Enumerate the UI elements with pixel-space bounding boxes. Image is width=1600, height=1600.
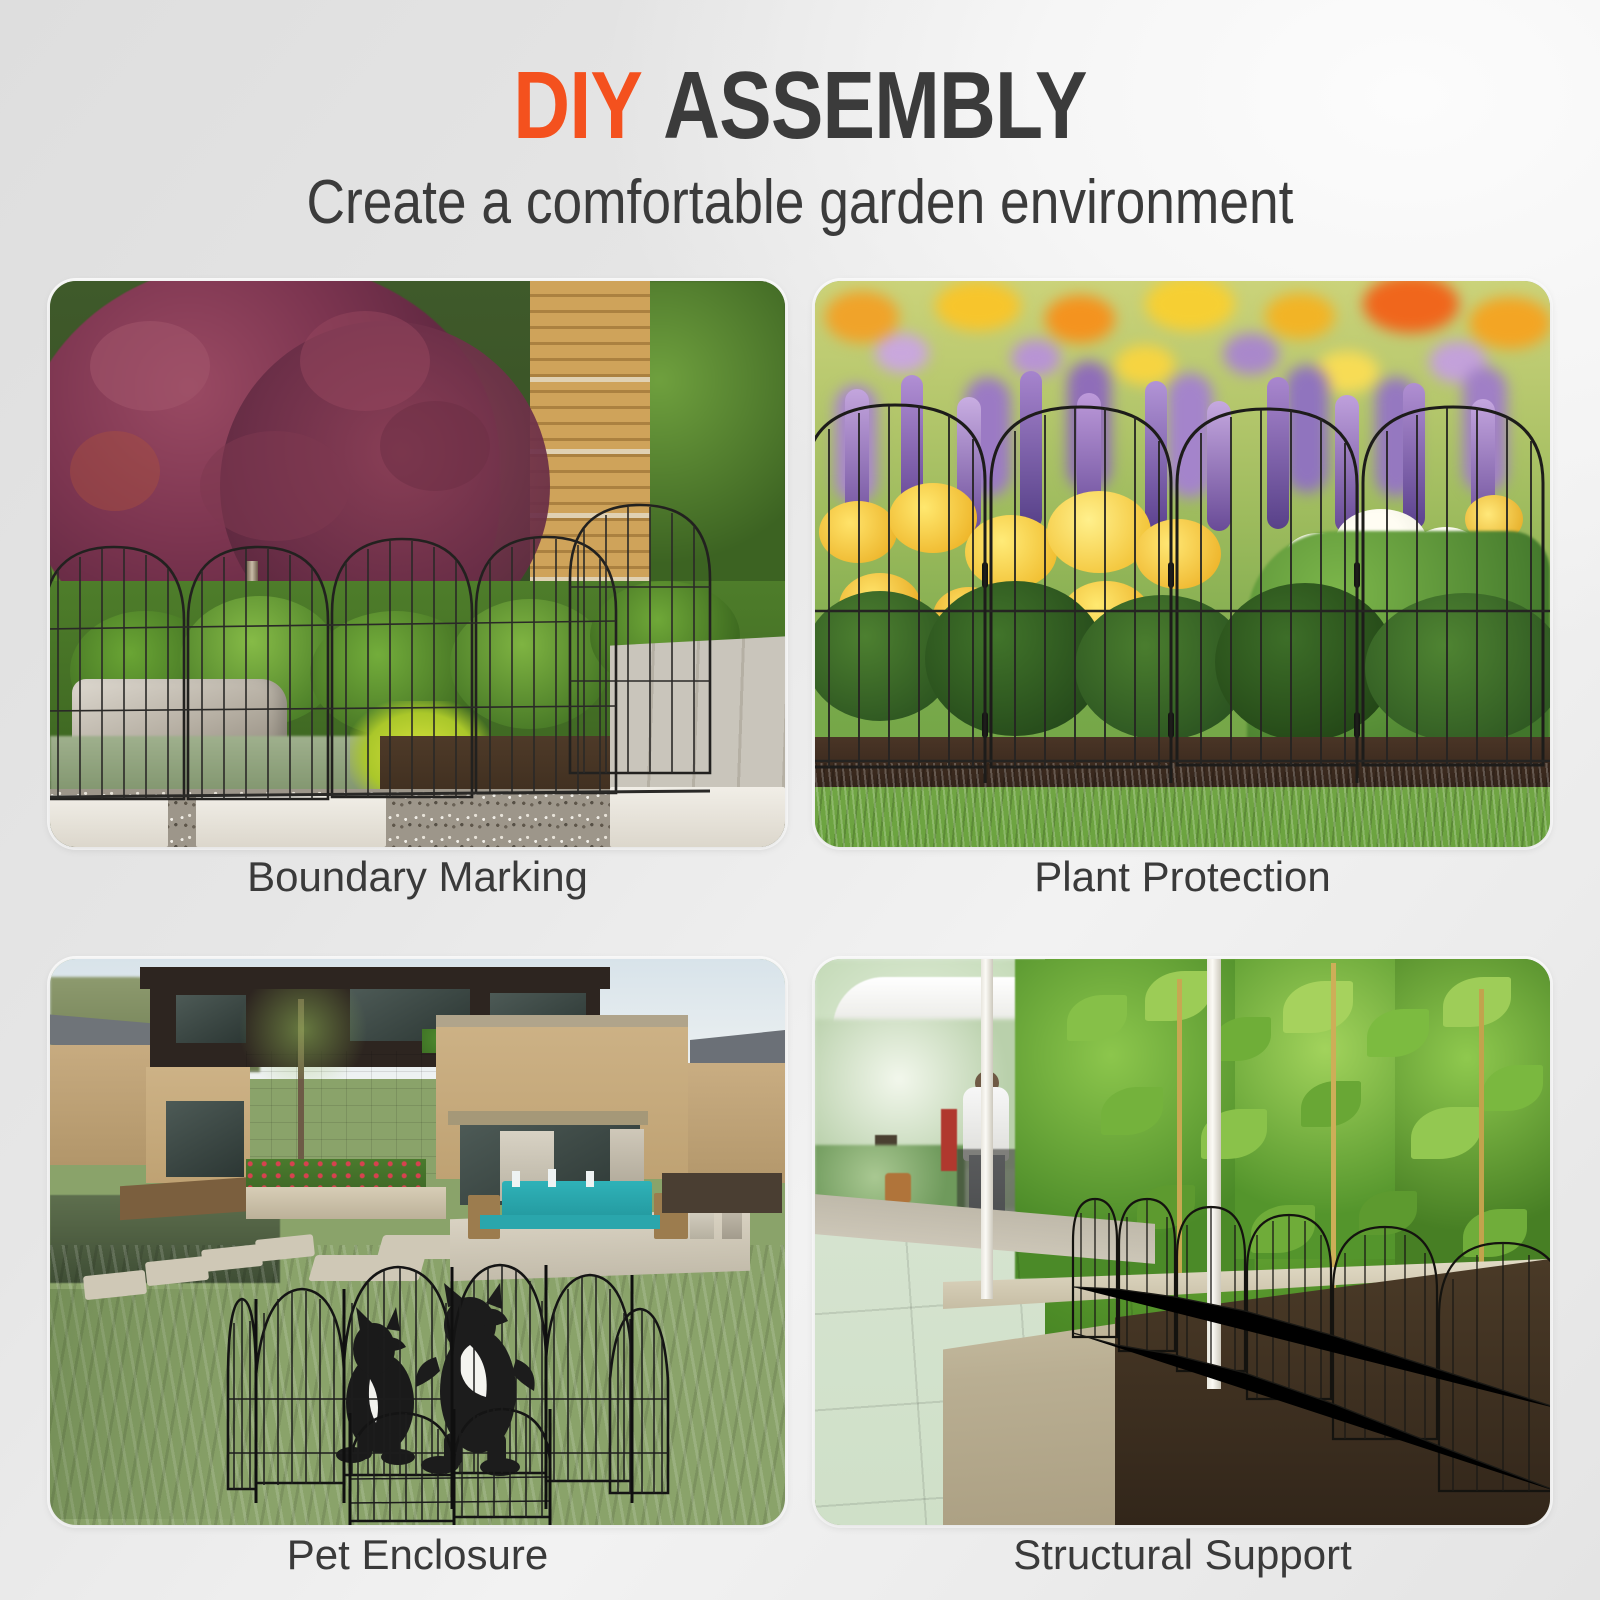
photo-structural-support: [815, 959, 1550, 1525]
caption-plant-protection: Plant Protection: [815, 853, 1550, 901]
page-title: DIY ASSEMBLY: [144, 58, 1456, 154]
page-subtitle: Create a comfortable garden environment: [112, 172, 1488, 234]
photo-plant-protection: [815, 281, 1550, 847]
wire-fence-graphic: [50, 1203, 785, 1525]
header: DIY ASSEMBLY Create a comfortable garden…: [0, 0, 1600, 234]
caption-boundary-marking: Boundary Marking: [50, 853, 785, 901]
caption-pet-enclosure: Pet Enclosure: [50, 1531, 785, 1579]
panel-plant-protection: Plant Protection: [815, 281, 1550, 893]
promo-page: DIY ASSEMBLY Create a comfortable garden…: [0, 0, 1600, 1600]
photo-boundary-marking: [50, 281, 785, 847]
panel-boundary-marking: Boundary Marking: [50, 281, 785, 893]
caption-structural-support: Structural Support: [815, 1531, 1550, 1579]
wire-fence-graphic: [955, 1155, 1550, 1525]
wire-fence-graphic: [815, 399, 1550, 789]
title-highlight: DIY: [513, 52, 642, 159]
panel-grid: Boundary Marking: [50, 281, 1550, 1571]
panel-pet-enclosure: Pet Enclosure: [50, 959, 785, 1571]
panel-structural-support: Structural Support: [815, 959, 1550, 1571]
title-rest: ASSEMBLY: [663, 52, 1087, 159]
wire-fence-graphic: [50, 501, 785, 811]
photo-pet-enclosure: [50, 959, 785, 1525]
